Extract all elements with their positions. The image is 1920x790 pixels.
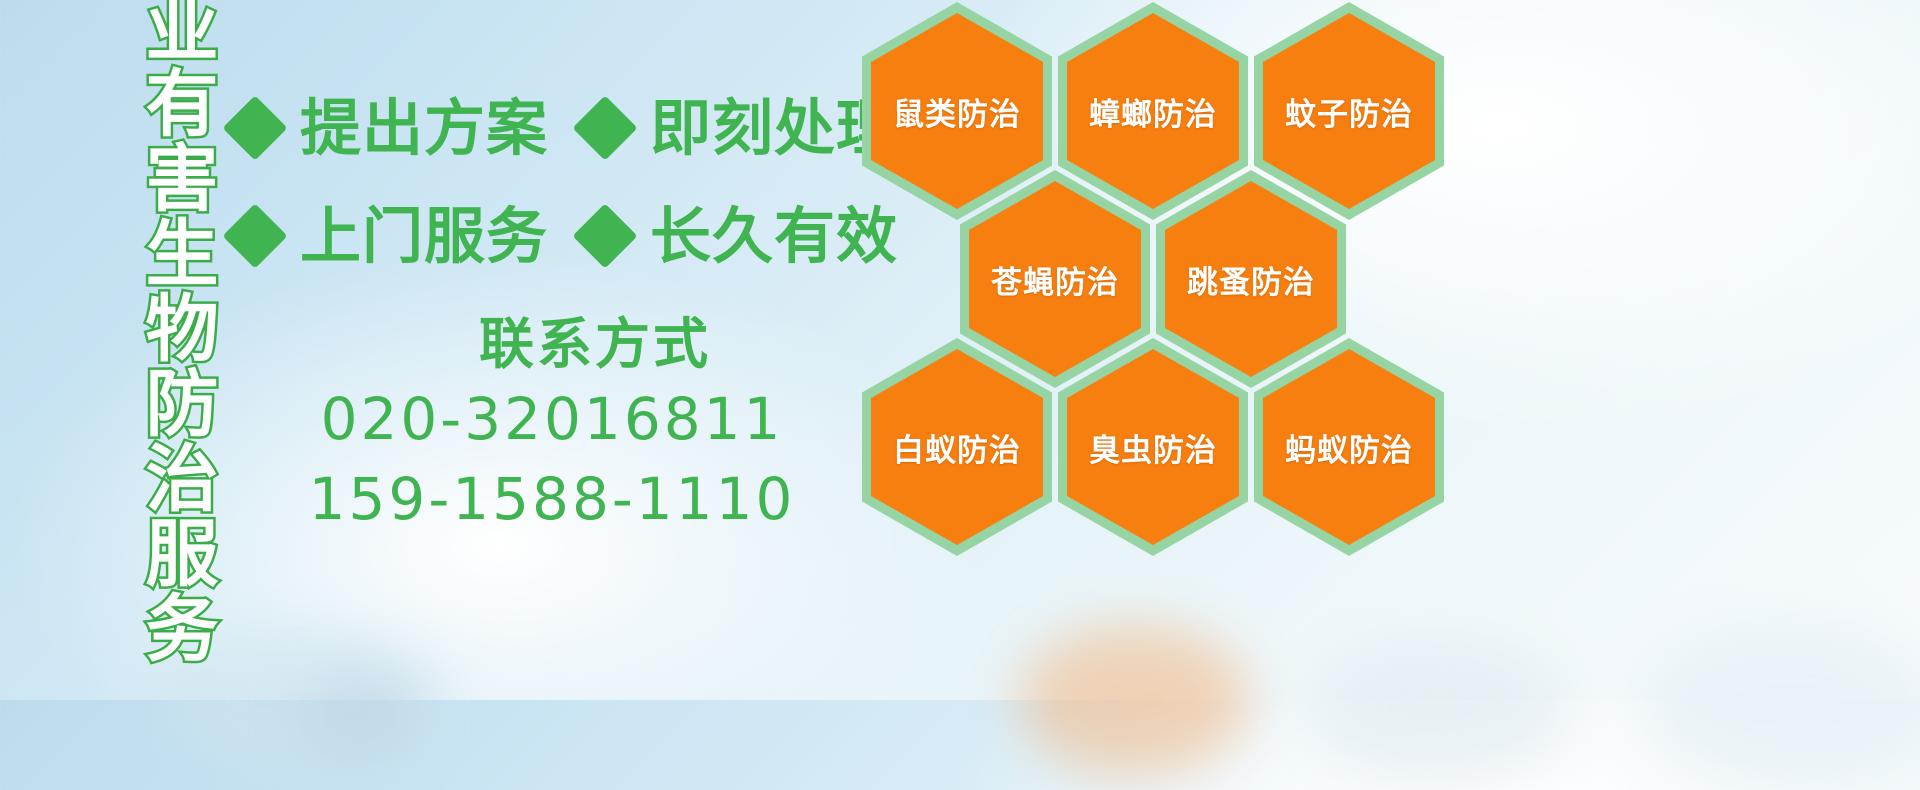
feature-row: 上门服务 长久有效 [232, 182, 872, 290]
diamond-bullet-icon [572, 203, 637, 268]
honeycomb-grid: 鼠类防治 蟑螂防治 蚊子防治 苍蝇防治 跳蚤防治 白蚁防治 [862, 0, 1462, 550]
contact-block: 联系方式 020-32016811 159-1588-1110 [232, 310, 872, 539]
hex-label: 鼠类防治 [893, 89, 1021, 134]
feature-item-door-to-door-service: 上门服务 [232, 206, 548, 267]
feature-row: 提出方案 即刻处理 [232, 74, 872, 182]
feature-label: 提出方案 [300, 98, 548, 159]
background-blur-blob [300, 670, 420, 760]
phone-number-mobile[interactable]: 159-1588-1110 [232, 459, 872, 539]
feature-label: 即刻处理 [650, 98, 898, 159]
diamond-bullet-icon [572, 95, 637, 160]
hex-label: 蚊子防治 [1285, 89, 1413, 134]
feature-label: 上门服务 [300, 206, 548, 267]
hex-label: 蚂蚁防治 [1285, 425, 1413, 470]
contact-title: 联系方式 [318, 310, 872, 379]
hex-cell-ant-control[interactable]: 蚂蚁防治 [1254, 338, 1444, 556]
vertical-headline: 专业有害生物防治服务 [108, 14, 212, 566]
feature-item-immediate-handling: 即刻处理 [582, 98, 898, 159]
background-blur-blob [1020, 625, 1250, 775]
feature-item-long-lasting-effect: 长久有效 [582, 206, 898, 267]
background-blur-blob [1640, 620, 1920, 790]
hex-label: 臭虫防治 [1089, 425, 1217, 470]
hex-cell-bedbug-control[interactable]: 臭虫防治 [1058, 338, 1248, 556]
banner-stage: 专业有害生物防治服务 提出方案 即刻处理 上门服务 长久有效 联系方式 0 [0, 0, 1920, 700]
phone-number-landline[interactable]: 020-32016811 [232, 379, 872, 459]
hex-label: 白蚁防治 [893, 425, 1021, 470]
feature-list: 提出方案 即刻处理 上门服务 长久有效 [232, 74, 872, 290]
diamond-bullet-icon [222, 203, 287, 268]
feature-item-propose-plan: 提出方案 [232, 98, 548, 159]
hex-label: 蟑螂防治 [1089, 89, 1217, 134]
background-blur-blob [1310, 635, 1570, 785]
hex-label: 苍蝇防治 [991, 257, 1119, 302]
hex-label: 跳蚤防治 [1187, 257, 1315, 302]
feature-label: 长久有效 [650, 206, 898, 267]
diamond-bullet-icon [222, 95, 287, 160]
hex-cell-termite-control[interactable]: 白蚁防治 [862, 338, 1052, 556]
